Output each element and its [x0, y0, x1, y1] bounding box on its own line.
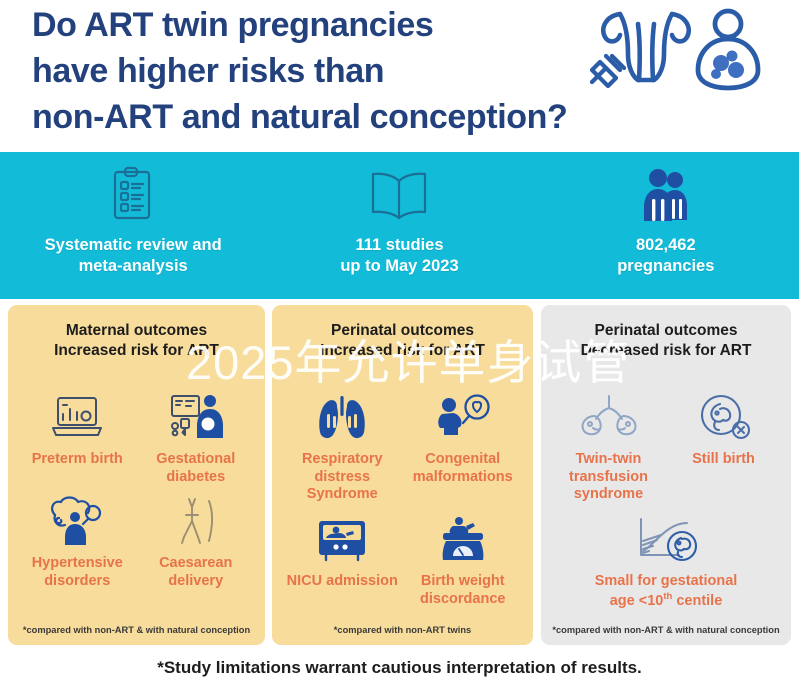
- card-note-perinatal-decreased: *compared with non-ART & with natural co…: [551, 625, 781, 637]
- label-line: syndrome: [574, 486, 643, 502]
- stat-line: up to May 2023: [340, 256, 458, 277]
- card-title-maternal: Maternal outcomes Increased risk for ART: [18, 321, 255, 362]
- outcome-item-gestational-diabetes: Gestational diabetes: [137, 388, 256, 486]
- infographic-root: Do ART twin pregnancies have higher risk…: [0, 0, 799, 684]
- stat-systematic-review: Systematic review and meta-analysis: [0, 152, 266, 299]
- syringe-icon: [592, 56, 624, 86]
- page-title: Do ART twin pregnancies have higher risk…: [32, 2, 602, 141]
- card-title-line: Decreased risk for ART: [551, 341, 781, 361]
- outcome-label-preterm-birth: Preterm birth: [32, 451, 123, 469]
- fetus-cross-icon: [666, 388, 781, 446]
- outcome-label-respiratory-distress: Respiratory distress Syndrome: [282, 451, 403, 504]
- outcome-item-caesarean-delivery: Caesarean delivery: [137, 492, 256, 590]
- outcome-item-still-birth: Still birth: [666, 388, 781, 504]
- two-people-icon: [639, 164, 693, 226]
- label-line: Caesarean: [159, 555, 232, 571]
- card-item-grid-perinatal-increased: Respiratory distress Syndrome: [282, 362, 523, 625]
- label-line: NICU admission: [287, 573, 398, 589]
- pregnant-woman-twins-icon: [698, 11, 758, 88]
- stat-label-pregnancies-count: 802,462 pregnancies: [617, 235, 714, 277]
- footer-disclaimer: *Study limitations warrant cautious inte…: [157, 658, 642, 678]
- card-title-line: Maternal outcomes: [18, 321, 255, 341]
- card-maternal-increased: Maternal outcomes Increased risk for ART: [8, 305, 265, 645]
- lungs-icon: [282, 388, 403, 446]
- card-item-grid-perinatal-decreased: Twin-twin transfusion syndrome: [551, 362, 781, 625]
- outcome-item-nicu-admission: NICU admission: [282, 510, 403, 608]
- label-line: Syndrome: [307, 486, 378, 502]
- label-tail: centile: [672, 592, 722, 608]
- label-line: age <10: [610, 592, 664, 608]
- outcome-item-preterm-birth: Preterm birth: [18, 388, 137, 486]
- title-line-1: Do ART twin pregnancies: [32, 2, 602, 48]
- laptop-chart-icon: [18, 388, 137, 446]
- card-item-grid-maternal: Preterm birth: [18, 362, 255, 625]
- label-line: malformations: [413, 469, 513, 485]
- label-line: disorders: [44, 573, 110, 589]
- label-line: Congenital: [425, 451, 500, 467]
- card-title-line: Increased risk for ART: [282, 341, 523, 361]
- title-line-3: non-ART and natural conception?: [32, 94, 602, 140]
- outcome-label-gestational-diabetes: Gestational diabetes: [156, 451, 235, 486]
- label-line: Small for gestational: [595, 573, 738, 589]
- stat-line: Systematic review and: [45, 235, 222, 256]
- outcome-item-respiratory-distress: Respiratory distress Syndrome: [282, 388, 403, 504]
- baby-weighing-scale-icon: [403, 510, 524, 568]
- outcome-item-congenital-malformations: Congenital malformations: [403, 388, 524, 504]
- stat-studies-count: 111 studies up to May 2023: [266, 152, 532, 299]
- label-line: Respiratory distress: [302, 451, 383, 485]
- blood-pressure-pregnant-icon: [18, 492, 137, 550]
- header-icon-group: [576, 6, 776, 92]
- clipboard-checklist-icon: [108, 164, 158, 226]
- outcome-label-small-for-gestational-age: Small for gestational age <10th centile: [595, 573, 738, 610]
- outcome-item-hypertensive-disorders: Hypertensive disorders: [18, 492, 137, 590]
- outcome-cards: Maternal outcomes Increased risk for ART: [0, 305, 799, 645]
- footer: *Study limitations warrant cautious inte…: [0, 652, 799, 684]
- caesarean-scar-icon: [137, 492, 256, 550]
- stat-line: 802,462: [617, 235, 714, 256]
- stat-line: pregnancies: [617, 256, 714, 277]
- card-title-line: Perinatal outcomes: [282, 321, 523, 341]
- card-note-perinatal-increased: *compared with non-ART twins: [282, 625, 523, 637]
- outcome-label-twin-twin-transfusion: Twin-twin transfusion syndrome: [569, 451, 648, 504]
- card-perinatal-decreased: Perinatal outcomes Decreased risk for AR…: [541, 305, 791, 645]
- outcome-label-hypertensive-disorders: Hypertensive disorders: [32, 555, 123, 590]
- incubator-icon: [282, 510, 403, 568]
- uterus-syringe-icon: [603, 14, 688, 80]
- stat-pregnancies-count: 802,462 pregnancies: [533, 152, 799, 299]
- outcome-item-twin-twin-transfusion: Twin-twin transfusion syndrome: [551, 388, 666, 504]
- label-line: diabetes: [166, 469, 225, 485]
- outcome-item-birth-weight-discordance: Birth weight discordance: [403, 510, 524, 608]
- outcome-label-birth-weight-discordance: Birth weight discordance: [420, 573, 505, 608]
- card-perinatal-increased: Perinatal outcomes Increased risk for AR…: [272, 305, 533, 645]
- baby-heart-magnifier-icon: [403, 388, 524, 446]
- stat-label-systematic-review: Systematic review and meta-analysis: [45, 235, 222, 277]
- twin-fetuses-placenta-icon: [551, 388, 666, 446]
- label-line: discordance: [420, 591, 505, 607]
- outcome-label-nicu-admission: NICU admission: [287, 573, 398, 591]
- growth-chart-fetus-icon: [551, 510, 781, 568]
- stat-label-studies-count: 111 studies up to May 2023: [340, 235, 458, 277]
- card-title-perinatal-decreased: Perinatal outcomes Decreased risk for AR…: [551, 321, 781, 362]
- card-note-maternal: *compared with non-ART & with natural co…: [18, 625, 255, 637]
- label-line: delivery: [168, 573, 223, 589]
- title-line-2: have higher risks than: [32, 48, 602, 94]
- label-line: transfusion: [569, 469, 648, 485]
- label-line: Twin-twin: [576, 451, 642, 467]
- label-line: Gestational: [156, 451, 235, 467]
- twin-babies-glyph: [711, 51, 744, 80]
- card-title-line: Increased risk for ART: [18, 341, 255, 361]
- label-line: Hypertensive: [32, 555, 123, 571]
- header: Do ART twin pregnancies have higher risk…: [0, 0, 799, 152]
- label-line: Birth weight: [421, 573, 505, 589]
- stat-line: meta-analysis: [45, 256, 222, 277]
- outcome-label-caesarean-delivery: Caesarean delivery: [159, 555, 232, 590]
- card-title-perinatal-increased: Perinatal outcomes Increased risk for AR…: [282, 321, 523, 362]
- stat-line: 111 studies: [340, 235, 458, 256]
- outcome-label-congenital-malformations: Congenital malformations: [413, 451, 513, 486]
- open-book-icon: [368, 164, 430, 226]
- label-line: Still birth: [692, 451, 755, 467]
- glucose-monitor-pregnant-icon: [137, 388, 256, 446]
- stats-band: Systematic review and meta-analysis 111 …: [0, 152, 799, 299]
- label-superscript: th: [663, 591, 672, 602]
- outcome-label-still-birth: Still birth: [692, 451, 755, 469]
- card-title-line: Perinatal outcomes: [551, 321, 781, 341]
- outcome-item-small-for-gestational-age: Small for gestational age <10th centile: [551, 510, 781, 610]
- label-line: Preterm birth: [32, 451, 123, 467]
